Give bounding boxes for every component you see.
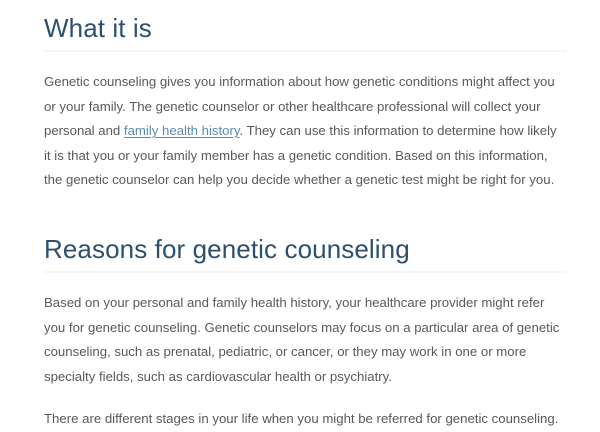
section-heading-block-reasons: Reasons for genetic counseling <box>44 225 566 273</box>
paragraph-life-stages: There are different stages in your life … <box>44 407 566 432</box>
article-page: What it is Genetic counseling gives you … <box>0 0 600 400</box>
article-content: What it is Genetic counseling gives you … <box>44 0 566 432</box>
family-health-history-link[interactable]: family health history <box>124 123 240 138</box>
section-spacer <box>44 193 566 225</box>
paragraph-reasons-referral: Based on your personal and family health… <box>44 291 566 389</box>
section-heading-what-it-is: What it is <box>44 12 566 44</box>
section-heading-reasons-for-genetic-counseling: Reasons for genetic counseling <box>44 233 566 265</box>
section-heading-block-what-it-is: What it is <box>44 0 566 52</box>
paragraph-what-it-is: Genetic counseling gives you information… <box>44 70 566 193</box>
